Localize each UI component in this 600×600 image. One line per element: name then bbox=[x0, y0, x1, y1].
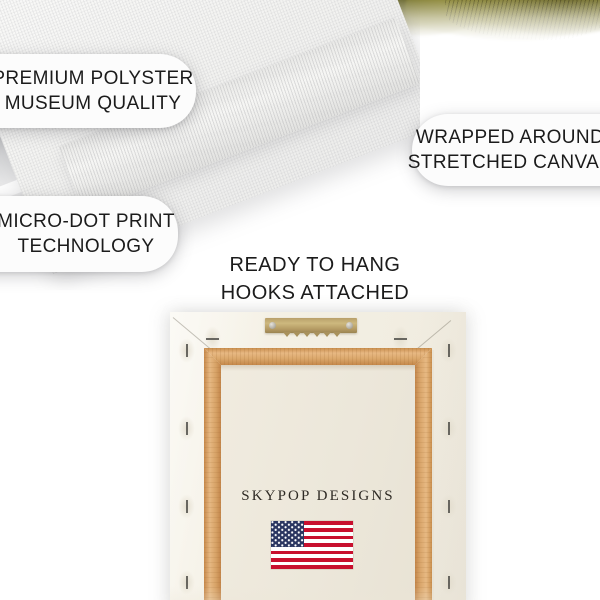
infographic-canvas: PREMIUM POLYSTER MUSEUM QUALITY WRAPPED … bbox=[0, 0, 600, 600]
hanger-plate bbox=[265, 318, 357, 333]
hanger-screw-right bbox=[346, 322, 353, 329]
hanger-tooth bbox=[303, 332, 311, 337]
flag-stars bbox=[271, 521, 304, 547]
wood-grain-texture bbox=[204, 348, 221, 600]
badge-line-1: PREMIUM POLYSTER bbox=[0, 66, 194, 91]
hanger-teeth bbox=[283, 332, 341, 337]
badge-line-1: MICRO-DOT PRINT bbox=[0, 209, 175, 234]
ready-to-hang-heading: READY TO HANG HOOKS ATTACHED bbox=[190, 252, 440, 307]
flag-canton bbox=[271, 521, 304, 547]
badge-line-2: STRETCHED CANVAS bbox=[408, 150, 600, 175]
united-states-flag-icon bbox=[271, 521, 353, 569]
hanger-tooth bbox=[293, 332, 301, 337]
badge-line-2: MUSEUM QUALITY bbox=[5, 91, 182, 116]
staple-left-2 bbox=[186, 422, 188, 435]
hanger-tooth bbox=[323, 332, 331, 337]
wood-grain-texture bbox=[204, 348, 432, 365]
staple-top-1 bbox=[206, 338, 219, 340]
stretcher-bar-top bbox=[204, 348, 432, 365]
flag-stripe-red bbox=[271, 558, 353, 562]
brand-name: SKYPOP DESIGNS bbox=[170, 488, 466, 505]
stretcher-bar-left bbox=[204, 348, 221, 600]
feature-badge-premium-polyster: PREMIUM POLYSTER MUSEUM QUALITY bbox=[0, 54, 196, 128]
flag-stripe-red bbox=[271, 565, 353, 569]
feature-badge-micro-dot: MICRO-DOT PRINT TECHNOLOGY bbox=[0, 196, 178, 272]
staple-right-2 bbox=[448, 422, 450, 435]
hanger-tooth bbox=[333, 332, 341, 337]
hanger-screw-left bbox=[269, 322, 276, 329]
feature-badge-wrapped-around: WRAPPED AROUND STRETCHED CANVAS bbox=[412, 114, 600, 186]
badge-line-1: WRAPPED AROUND bbox=[416, 125, 600, 150]
canvas-back-product: SKYPOP DESIGNS bbox=[170, 312, 466, 600]
ready-line-1: READY TO HANG bbox=[190, 252, 440, 280]
stretcher-bar-right bbox=[415, 348, 432, 600]
stretcher-bar-inner-shadow bbox=[221, 365, 415, 371]
hanger-tooth bbox=[283, 332, 291, 337]
flag-stripe-red bbox=[271, 551, 353, 555]
wood-grain-texture bbox=[415, 348, 432, 600]
canvas-bottom-fade bbox=[170, 586, 466, 600]
hanger-tooth bbox=[313, 332, 321, 337]
staple-left-1 bbox=[186, 344, 188, 357]
ready-line-2: HOOKS ATTACHED bbox=[190, 280, 440, 308]
staple-right-1 bbox=[448, 344, 450, 357]
sawtooth-hanger bbox=[265, 318, 357, 333]
staple-top-2 bbox=[394, 338, 407, 340]
badge-line-2: TECHNOLOGY bbox=[17, 234, 154, 259]
